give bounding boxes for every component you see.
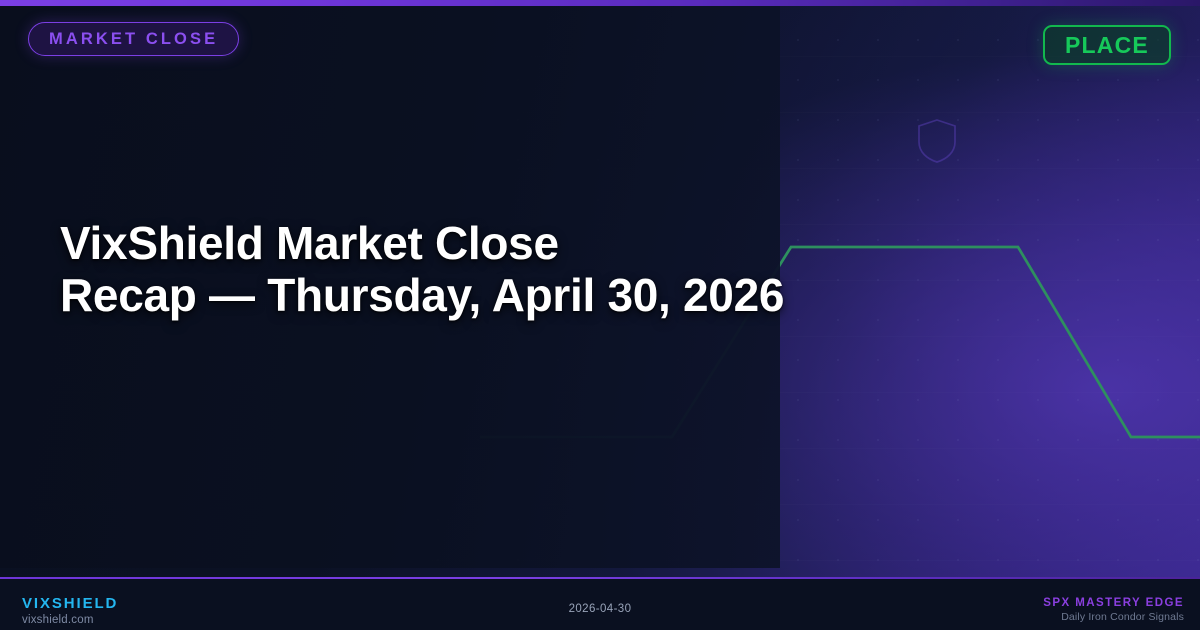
status-badge-label: MARKET CLOSE xyxy=(49,31,218,48)
shield-icon xyxy=(916,118,958,164)
footer-product-name: SPX MASTERY EDGE xyxy=(1043,596,1184,610)
footer-tagline: Daily Iron Condor Signals xyxy=(1043,610,1184,626)
place-button-label: PLACE xyxy=(1065,34,1149,57)
status-badge-market-close: MARKET CLOSE xyxy=(28,22,239,56)
footer-product-block: SPX MASTERY EDGE Daily Iron Condor Signa… xyxy=(1043,596,1184,626)
social-card: MARKET CLOSE PLACE VixShield Market Clos… xyxy=(0,0,1200,630)
footer: VIXSHIELD vixshield.com 2026-04-30 SPX M… xyxy=(0,579,1200,630)
top-accent-bar xyxy=(0,0,1200,6)
place-button[interactable]: PLACE xyxy=(1043,25,1171,65)
footer-date: 2026-04-30 xyxy=(0,603,1200,615)
page-title: VixShield Market Close Recap — Thursday,… xyxy=(60,218,960,321)
